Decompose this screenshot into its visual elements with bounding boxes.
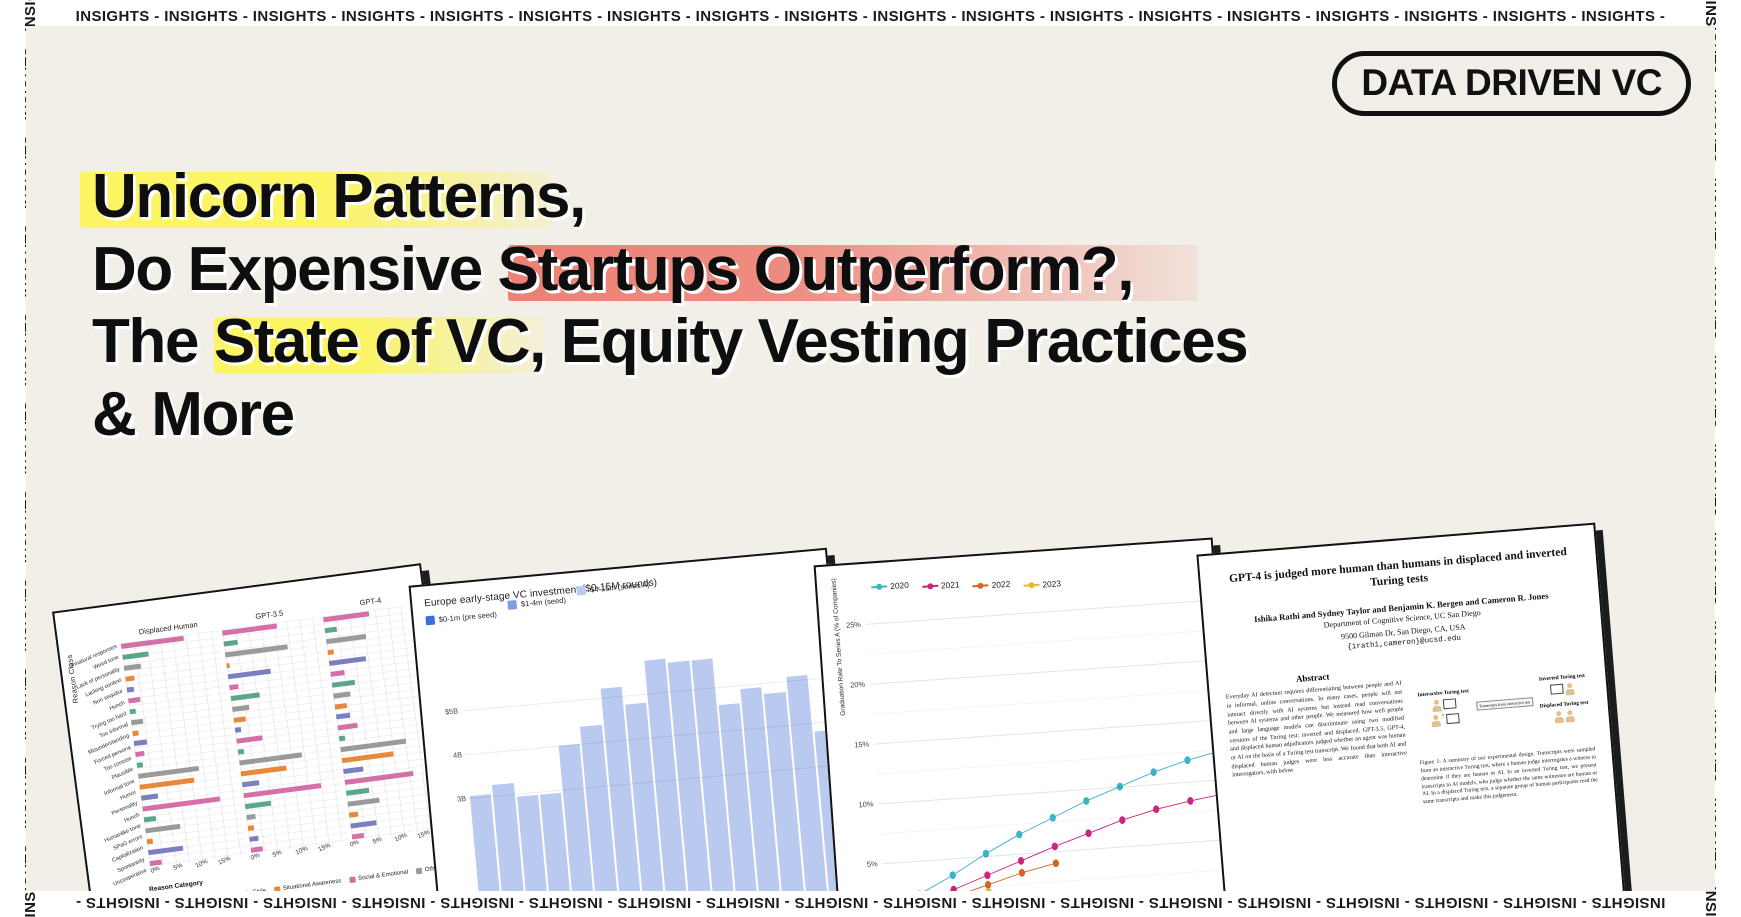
c2-legend-swatch bbox=[508, 600, 518, 610]
c3-legend-marker bbox=[922, 585, 938, 588]
c1-bar bbox=[141, 794, 159, 801]
headline-line-4: & More bbox=[92, 379, 1412, 452]
c1-bar bbox=[327, 649, 333, 655]
c1-category-label: Hunch bbox=[109, 700, 126, 712]
c3-data-point bbox=[949, 871, 956, 879]
c3-y-tick: 10% bbox=[858, 799, 873, 809]
c2-y-tick: 3B bbox=[457, 794, 467, 804]
c1-bar bbox=[332, 679, 356, 687]
c2-legend-item: $0-1m (pre seed) bbox=[425, 610, 497, 625]
c3-data-point bbox=[985, 888, 992, 891]
c1-bar bbox=[323, 611, 369, 622]
c1-bar bbox=[223, 640, 238, 647]
c2-legend-label: $0-1m (pre seed) bbox=[438, 610, 497, 624]
screen-icon bbox=[1443, 699, 1457, 710]
c2-plot-area: $5B4B3B bbox=[457, 624, 850, 891]
c1-bar bbox=[349, 811, 358, 817]
c1-bar bbox=[343, 767, 364, 775]
fig-label-inverted: Inverted Turing test bbox=[1537, 673, 1586, 683]
c1-bar bbox=[249, 836, 258, 842]
c1-bar bbox=[325, 627, 337, 633]
c3-legend-label: 2021 bbox=[941, 579, 960, 590]
fig-icon-group-interactive bbox=[1418, 698, 1470, 714]
c1-bar bbox=[242, 780, 260, 787]
c3-legend-marker bbox=[1023, 584, 1039, 587]
c1-bar bbox=[329, 656, 367, 666]
c2-legend-swatch bbox=[577, 586, 587, 596]
c1-bar bbox=[124, 663, 142, 670]
marquee-bottom: INSIGHTS - INSIGHTS - INSIGHTS - INSIGHT… bbox=[0, 894, 1741, 911]
screen-icon bbox=[1446, 714, 1460, 725]
c1-bar bbox=[326, 634, 367, 644]
c3-y-tick: 15% bbox=[854, 739, 869, 749]
c1-bar bbox=[239, 753, 303, 766]
c3-data-point bbox=[1019, 869, 1026, 877]
page-title: Unicorn Patterns, Do Expensive Startups … bbox=[92, 161, 1412, 451]
headline-line-1: Unicorn Patterns, bbox=[92, 161, 1412, 234]
c1-bar bbox=[236, 736, 262, 744]
c1-bar bbox=[144, 816, 156, 822]
c1-x-tick: 5% bbox=[172, 862, 183, 872]
c1-legend-item: Situational Awareness bbox=[274, 878, 342, 891]
c1-bar bbox=[122, 651, 148, 659]
c3-data-point bbox=[1018, 857, 1025, 865]
c1-bar bbox=[340, 739, 406, 753]
c1-bar bbox=[129, 708, 135, 714]
c2-bars bbox=[457, 624, 850, 891]
c1-x-tick: 0% bbox=[349, 839, 360, 849]
c1-x-tick: 5% bbox=[371, 836, 382, 846]
marquee-top: INSIGHTS - INSIGHTS - INSIGHTS - INSIGHT… bbox=[0, 8, 1741, 25]
c1-bar bbox=[135, 751, 144, 757]
c1-bar bbox=[246, 814, 255, 820]
c1-legend-item: Linguistic Style bbox=[217, 888, 266, 891]
c1-bar bbox=[131, 718, 143, 724]
c3-axis-label-y: Graduation Rate To Series A (% of Compan… bbox=[831, 578, 848, 716]
c1-bar bbox=[346, 788, 370, 796]
c1-bar bbox=[333, 691, 351, 698]
chart-card-graduation-rate[interactable]: 2020202120222023 Graduation Rate To Seri… bbox=[814, 537, 1239, 891]
paper-figure-1: Interactive Turing test ? bbox=[1412, 651, 1595, 757]
screenshot-root: INSIGHTS - INSIGHTS - INSIGHTS - INSIGHT… bbox=[0, 0, 1741, 917]
c1-bar bbox=[235, 728, 241, 734]
c2-y-tick: 4B bbox=[453, 750, 463, 760]
c1-bar bbox=[345, 771, 414, 785]
paper-card-turing-test[interactable]: GPT-4 is judged more human than humans i… bbox=[1196, 523, 1625, 891]
c1-bar bbox=[127, 686, 134, 692]
c1-bar bbox=[238, 749, 244, 755]
fig-icon-group-displaced bbox=[1540, 709, 1590, 725]
c1-x-tick: 5% bbox=[272, 849, 283, 859]
c3-data-point bbox=[1083, 797, 1090, 805]
poster-canvas: DATA DRIVEN VC Unicorn Patterns, Do Expe… bbox=[26, 26, 1715, 891]
c1-bar bbox=[147, 838, 153, 844]
paper-column-right: Interactive Turing test ? bbox=[1412, 651, 1599, 807]
paper-column-left: Abstract Everyday AI detection requires … bbox=[1225, 666, 1412, 822]
person-icon bbox=[1555, 711, 1565, 724]
c1-legend-label: Linguistic Style bbox=[226, 888, 266, 891]
c3-legend-label: 2020 bbox=[890, 580, 909, 591]
c1-bar bbox=[137, 763, 143, 769]
c3-data-point bbox=[1051, 842, 1058, 850]
question-mark-icon: ? bbox=[1442, 715, 1445, 727]
c1-bar bbox=[241, 766, 287, 777]
c3-data-point bbox=[1150, 768, 1157, 776]
c1-bar bbox=[336, 713, 351, 720]
c1-bar bbox=[350, 820, 376, 828]
c1-bar bbox=[128, 697, 140, 703]
c3-y-tick: 5% bbox=[867, 859, 878, 869]
screen-icon bbox=[1550, 684, 1564, 695]
c2-legend-swatch bbox=[425, 616, 435, 626]
person-icon bbox=[1432, 700, 1442, 713]
c1-bar bbox=[330, 670, 345, 677]
fig-icon-group-judge: ? bbox=[1419, 713, 1471, 729]
c1-x-tick: 0% bbox=[150, 865, 161, 875]
person-icon bbox=[1566, 710, 1576, 723]
c1-legend-item: Social & Emotional bbox=[349, 869, 409, 883]
c1-legend-swatch bbox=[416, 868, 423, 875]
fig-label-displaced: Displaced Turing test bbox=[1540, 700, 1589, 710]
c1-bar bbox=[138, 766, 199, 779]
c1-bar bbox=[347, 798, 379, 807]
c1-bar bbox=[229, 684, 238, 690]
c1-bar bbox=[339, 736, 345, 742]
brand-logo: DATA DRIVEN VC bbox=[1332, 51, 1691, 116]
c3-legend-marker bbox=[871, 585, 887, 588]
fig-label-transcript: Transcripts from interactive test bbox=[1476, 697, 1534, 711]
headline-line-2: Do Expensive Startups Outperform?, bbox=[92, 234, 1412, 307]
c1-panels: Displaced HumanGPT-3.5GPT-4 bbox=[121, 604, 450, 867]
headline-line-3: The State of VC, Equity Vesting Practice… bbox=[92, 306, 1412, 379]
c2-y-tick: $5B bbox=[445, 706, 459, 716]
c3-data-point bbox=[1053, 859, 1060, 867]
fig-icon-group-inverted bbox=[1538, 682, 1588, 698]
c3-data-point bbox=[1085, 829, 1092, 837]
c2-legend-item: $4-15m (series A) bbox=[577, 580, 650, 596]
c3-y-tick: 20% bbox=[850, 680, 865, 690]
c1-legend-label: Situational Awareness bbox=[283, 878, 342, 891]
paper-figure-caption: Figure 1: A summary of our experimental … bbox=[1420, 747, 1599, 807]
c1-bar bbox=[148, 846, 183, 855]
c1-bar bbox=[245, 801, 271, 809]
c3-data-point bbox=[1184, 756, 1191, 764]
c1-x-tick: 0% bbox=[249, 852, 260, 862]
c1-bar bbox=[342, 752, 394, 764]
c1-bar bbox=[225, 644, 289, 657]
c1-bar bbox=[125, 675, 134, 681]
c3-data-point bbox=[1016, 830, 1023, 838]
c3-legend-label: 2022 bbox=[991, 579, 1010, 590]
c1-bar bbox=[228, 668, 272, 679]
c1-bar bbox=[145, 824, 180, 833]
c1-legend-title: Reason Category bbox=[149, 879, 204, 891]
c1-bar bbox=[226, 663, 230, 668]
c1-bar bbox=[233, 716, 245, 722]
c1-bar bbox=[134, 740, 148, 747]
c1-bar bbox=[231, 692, 260, 701]
c1-bar bbox=[232, 704, 250, 711]
c1-bar bbox=[335, 703, 347, 709]
c1-bar bbox=[222, 624, 277, 636]
c1-bar bbox=[337, 723, 358, 731]
c1-bar bbox=[139, 778, 194, 790]
c3-data-point bbox=[1153, 805, 1160, 813]
chart-card-europe-investment[interactable]: Europe early-stage VC investment ($0-15M… bbox=[409, 548, 860, 891]
person-icon bbox=[1431, 715, 1441, 728]
paper-abstract-body: Everyday AI detection requires different… bbox=[1226, 680, 1408, 780]
c3-data-point bbox=[984, 871, 991, 879]
chart-card-reason-class[interactable]: Reason Class Unnatural responsesWeird to… bbox=[52, 563, 464, 891]
c3-y-tick: 25% bbox=[846, 620, 861, 630]
person-icon bbox=[1565, 683, 1575, 696]
c1-bar bbox=[248, 825, 254, 831]
c1-legend-label: Social & Emotional bbox=[358, 869, 409, 882]
c1-legend-swatch bbox=[274, 886, 281, 891]
c3-legend-marker bbox=[973, 584, 989, 587]
c1-legend-swatch bbox=[349, 876, 356, 883]
c3-data-point bbox=[1187, 797, 1194, 805]
c1-category-label: Hunch bbox=[123, 812, 140, 824]
c3-plot-area: 25%20%15%10%5% bbox=[864, 576, 1232, 891]
c1-bar bbox=[132, 730, 138, 736]
